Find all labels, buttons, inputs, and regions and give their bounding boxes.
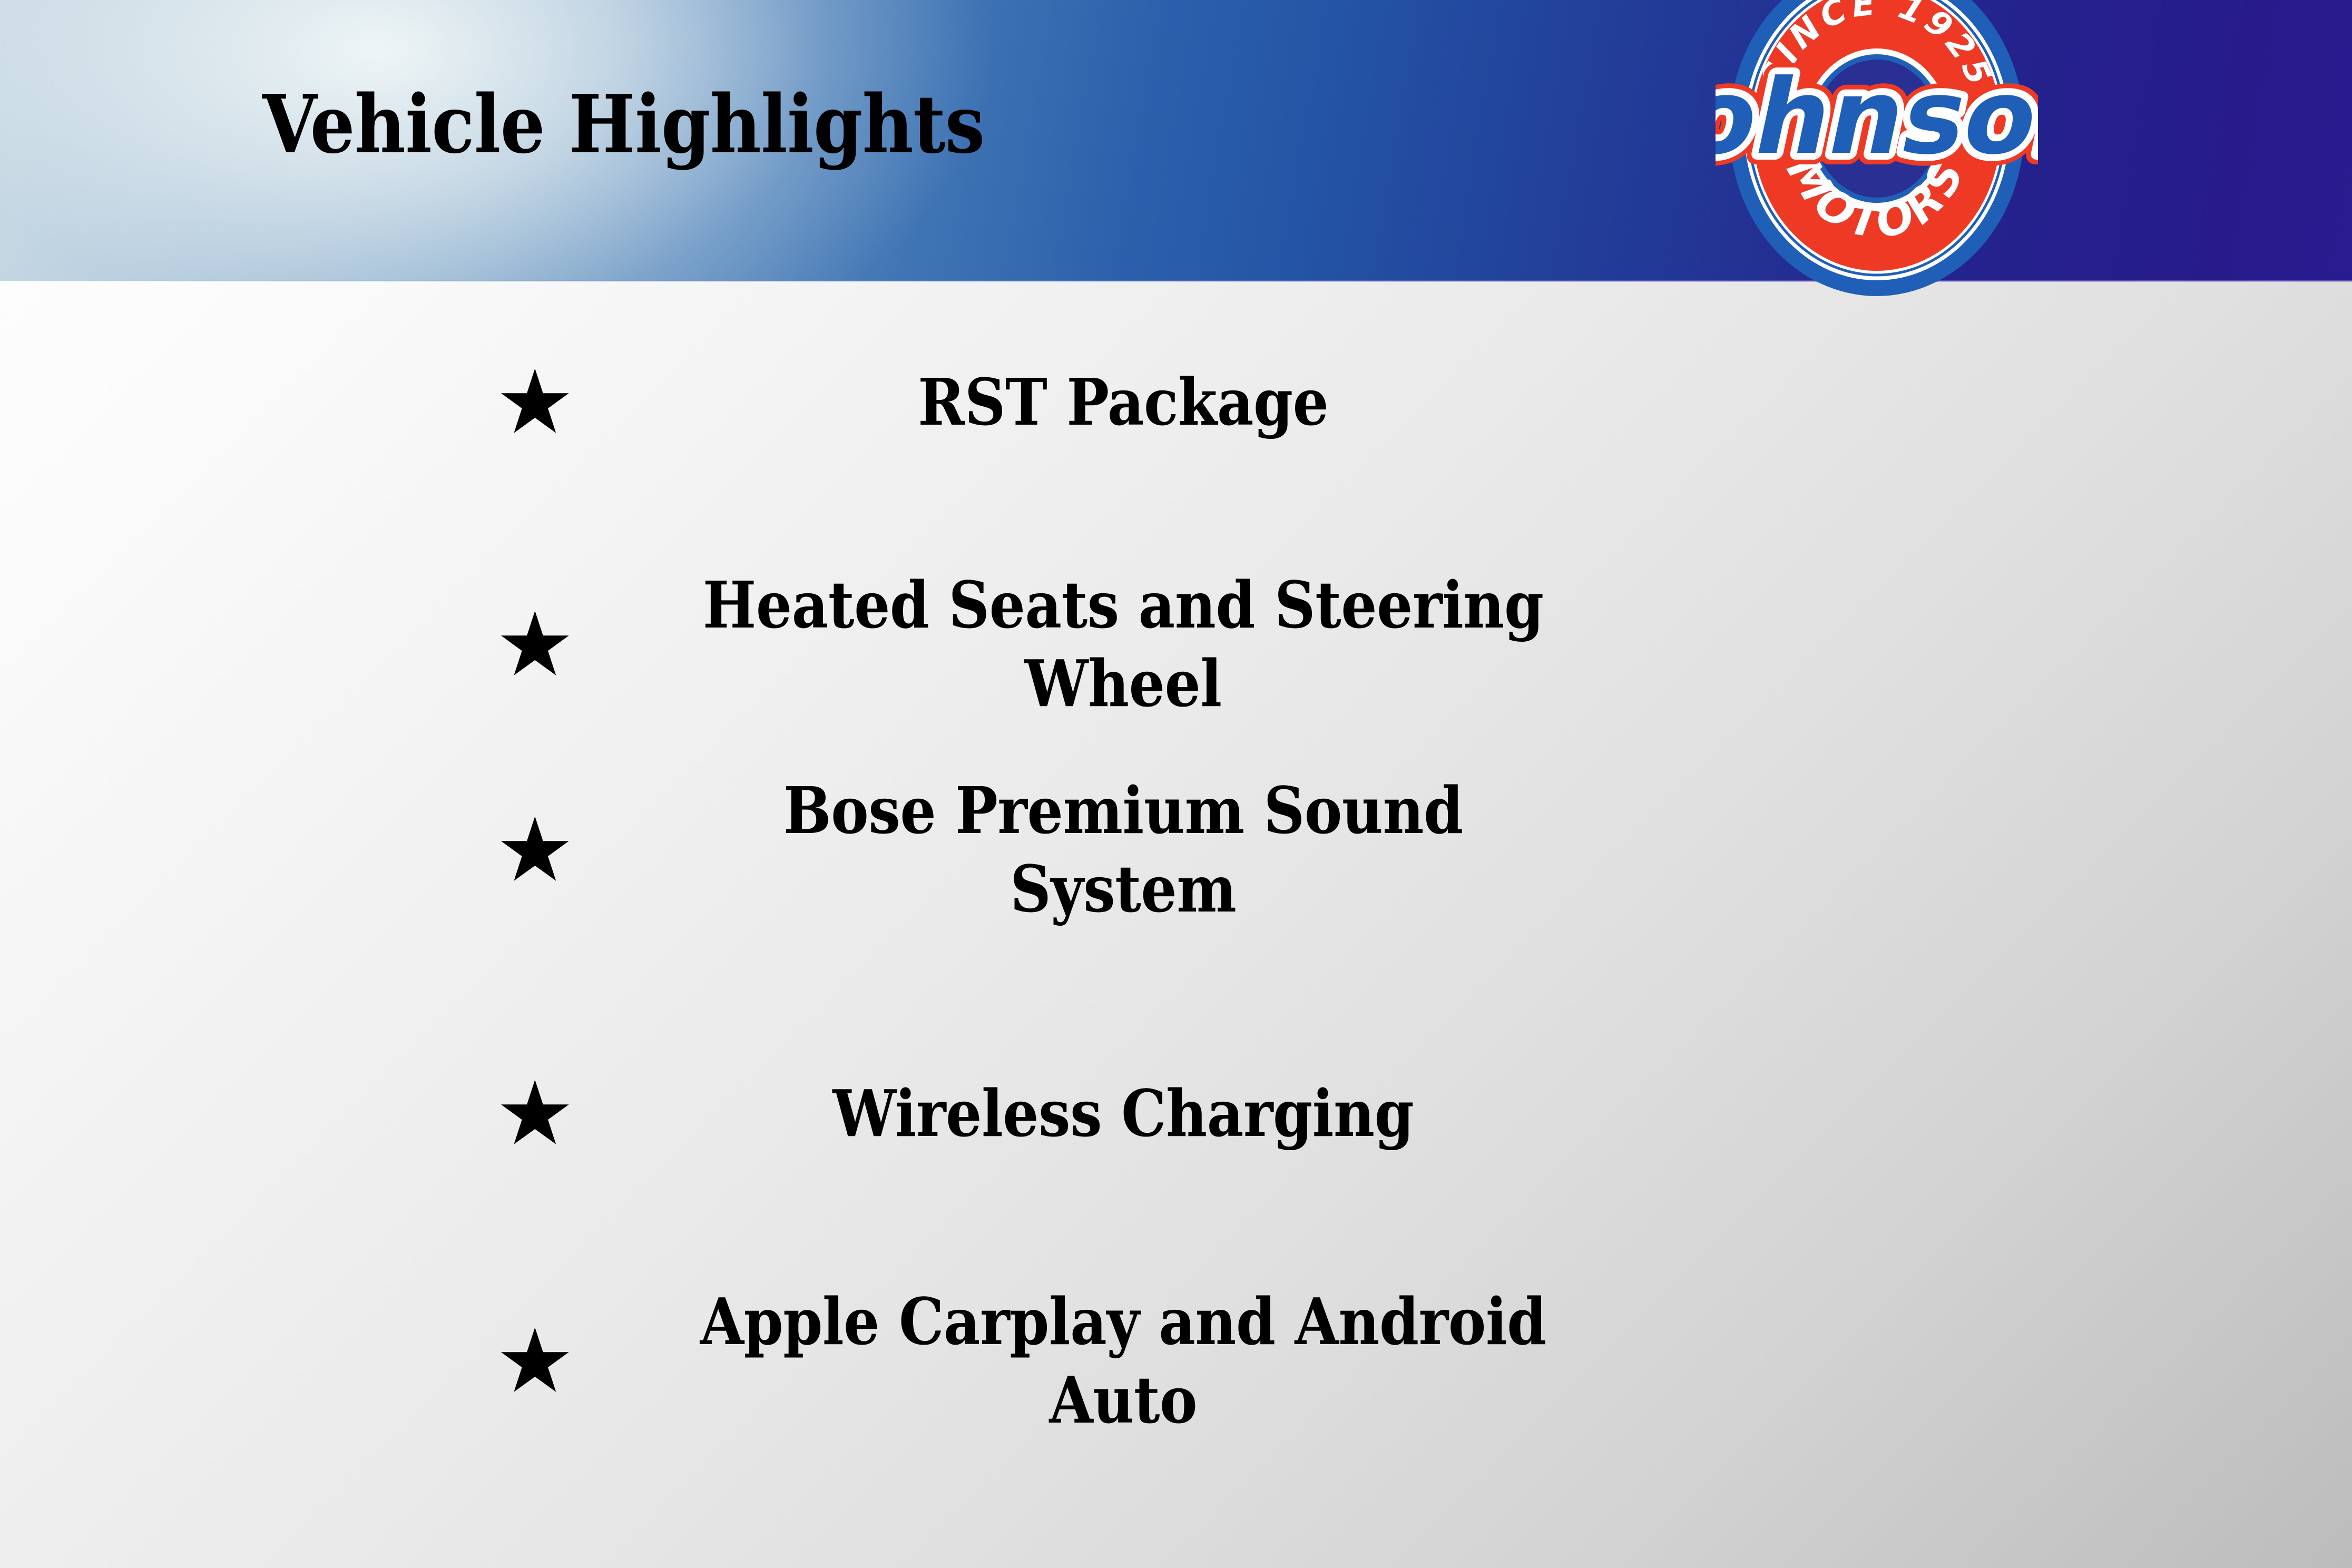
svg-text:Johnson: Johnson bbox=[1716, 57, 2038, 177]
highlights-list: ★ RST Package ★ Heated Seats and Steerin… bbox=[0, 281, 2352, 1568]
list-item-label: Heated Seats and Steering Wheel bbox=[688, 566, 1573, 723]
list-item-label: Wireless Charging bbox=[688, 1074, 1573, 1153]
johnson-motors-logo: SINCE 1925 SINCE 1925 MOTORS MOTORS John… bbox=[1716, 0, 2038, 308]
list-item-label: RST Package bbox=[688, 363, 1573, 442]
list-item: ★ Apple Carplay and Android Auto bbox=[0, 1271, 1739, 1451]
star-icon: ★ bbox=[495, 806, 627, 894]
list-item: ★ Wireless Charging bbox=[0, 1045, 1739, 1182]
list-item-label: Bose Premium Sound System bbox=[688, 771, 1573, 928]
star-icon: ★ bbox=[495, 1069, 627, 1158]
list-item-label: Apple Carplay and Android Auto bbox=[688, 1282, 1573, 1439]
star-icon: ★ bbox=[495, 358, 627, 446]
list-item: ★ Heated Seats and Steering Wheel bbox=[0, 555, 1739, 734]
vehicle-highlights-slide: Vehicle Highlights SINCE 1925 bbox=[0, 0, 2352, 1568]
star-icon: ★ bbox=[495, 1317, 627, 1405]
star-icon: ★ bbox=[495, 600, 627, 689]
johnson-wordmark: Johnson Johnson Johnson bbox=[1716, 57, 2038, 177]
list-item: ★ RST Package bbox=[0, 334, 1739, 471]
list-item: ★ Bose Premium Sound System bbox=[0, 781, 1739, 918]
page-title: Vehicle Highlights bbox=[262, 84, 984, 164]
